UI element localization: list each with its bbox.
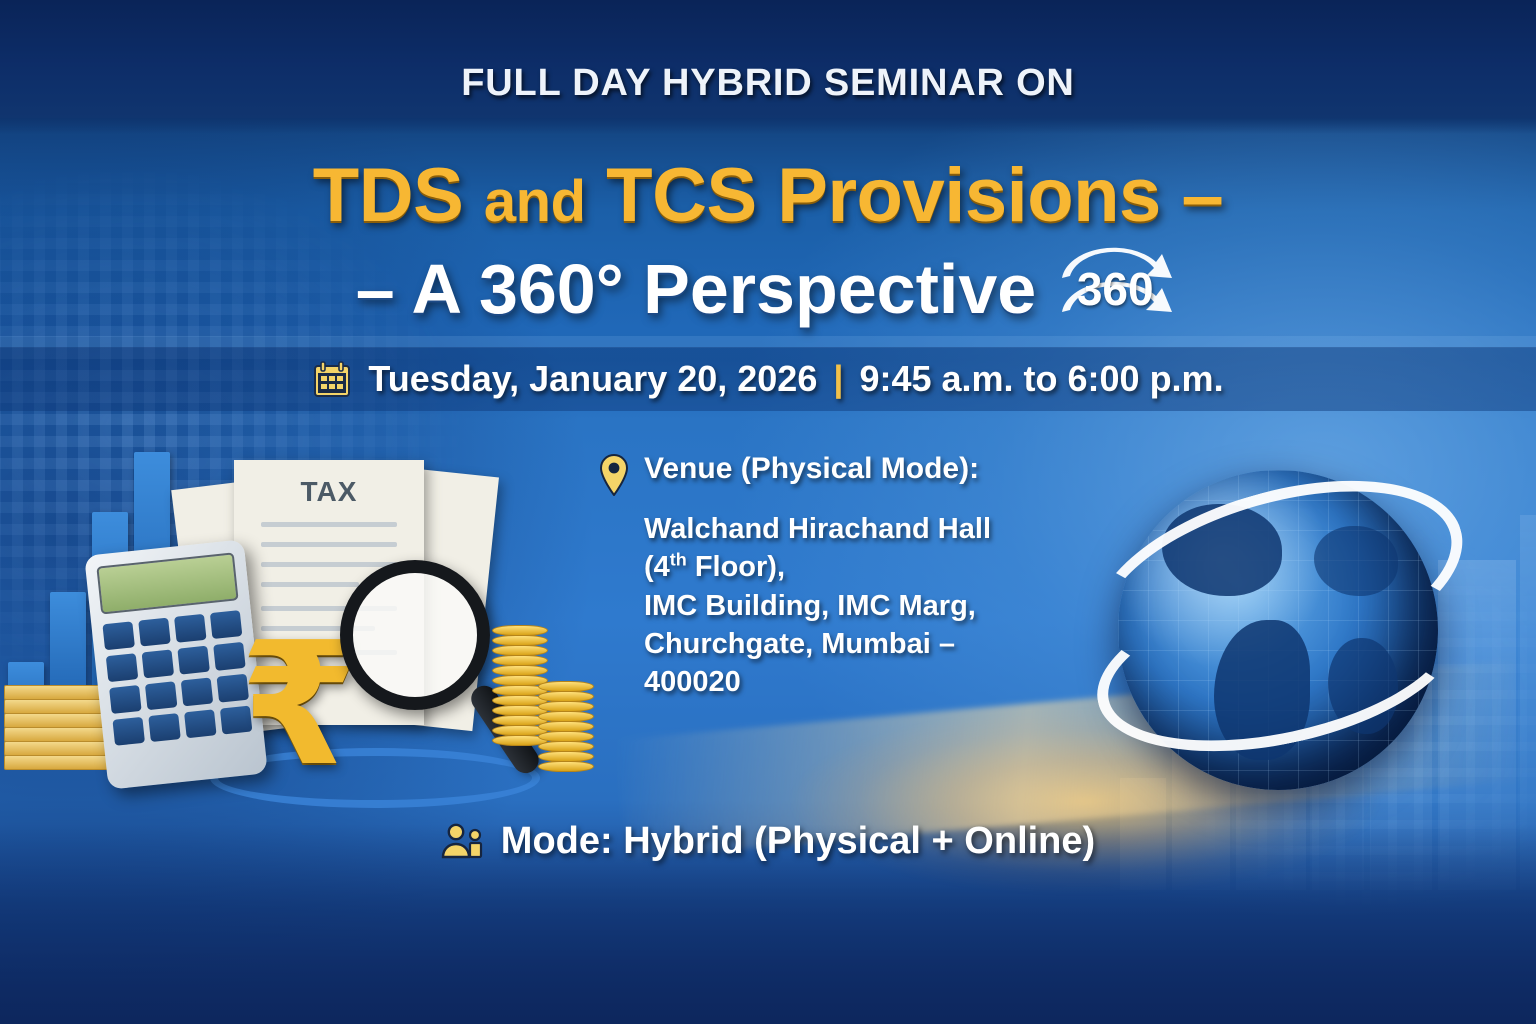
venue-address-line-5: 400020 bbox=[644, 663, 1028, 701]
calculator-keypad bbox=[102, 610, 252, 746]
date-time-separator: | bbox=[833, 358, 843, 400]
coin-stack bbox=[538, 682, 594, 772]
title-perspective: – A 360° Perspective bbox=[356, 254, 1036, 324]
venue-floor-post: Floor), bbox=[687, 551, 785, 583]
event-time: 9:45 a.m. to 6:00 p.m. bbox=[859, 358, 1223, 400]
rotate-360-icon: 360 bbox=[1050, 246, 1180, 332]
venue-address-line-3: IMC Building, IMC Marg, bbox=[644, 587, 1028, 625]
document-title: TAX bbox=[234, 476, 424, 508]
title-block: TDS and TCS Provisions – – A 360° Perspe… bbox=[0, 158, 1536, 332]
venue-floor-sup: th bbox=[670, 550, 687, 570]
title-line-1: TDS and TCS Provisions – bbox=[0, 158, 1536, 234]
header-band-edge bbox=[0, 118, 1536, 134]
coin-stacks bbox=[492, 572, 612, 772]
venue-label: Venue (Physical Mode): bbox=[644, 452, 979, 485]
title-tcs-provisions: TCS Provisions – bbox=[606, 153, 1223, 238]
date-time-row: Tuesday, January 20, 2026 | 9:45 a.m. to… bbox=[0, 358, 1536, 400]
venue-address-line-4: Churchgate, Mumbai – bbox=[644, 625, 1028, 663]
magnifier-lens bbox=[340, 560, 490, 710]
tax-illustration: TAX ₹ bbox=[0, 430, 620, 830]
title-and: and bbox=[484, 169, 586, 234]
calendar-icon bbox=[312, 359, 352, 399]
venue-header: Venue (Physical Mode): bbox=[598, 452, 1028, 496]
seminar-kicker: FULL DAY HYBRID SEMINAR ON bbox=[0, 62, 1536, 105]
calculator-screen bbox=[96, 552, 238, 614]
venue-address: Walchand Hirachand Hall (4th Floor), IMC… bbox=[644, 510, 1028, 701]
globe-illustration bbox=[1088, 452, 1478, 822]
venue-address-line-2: (4th Floor), bbox=[644, 548, 1028, 586]
title-line-2: – A 360° Perspective 360 bbox=[0, 246, 1536, 332]
venue-address-line-1: Walchand Hirachand Hall bbox=[644, 510, 1028, 548]
rotate-360-label: 360 bbox=[1050, 246, 1180, 332]
venue-floor-pre: (4 bbox=[644, 551, 670, 583]
title-tds: TDS bbox=[313, 153, 464, 238]
venue-block: Venue (Physical Mode): Walchand Hirachan… bbox=[598, 452, 1028, 701]
seminar-banner: FULL DAY HYBRID SEMINAR ON TDS and TCS P… bbox=[0, 0, 1536, 1024]
event-date: Tuesday, January 20, 2026 bbox=[368, 358, 817, 400]
